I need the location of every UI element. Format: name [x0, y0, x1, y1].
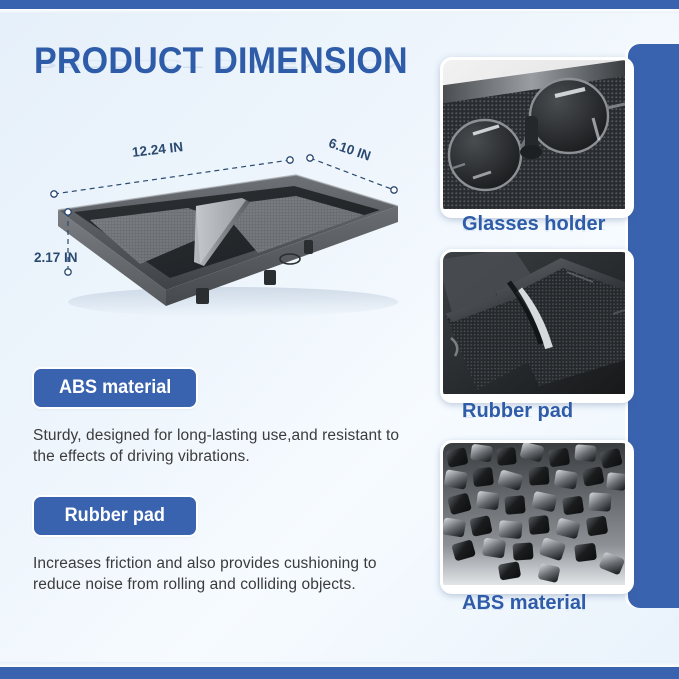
- photo-caption-abs-material: ABS material ABS material: [462, 592, 587, 615]
- page-title-text: PRODUCT DIMENSION: [34, 38, 402, 84]
- dimension-diagram: 12.24 IN 6.10 IN 2.17 IN: [28, 120, 428, 325]
- bottom-accent-bar: [0, 667, 679, 679]
- feature-badge-abs-material-label: ABS material: [59, 377, 171, 399]
- feature-badge-rubber-pad-label: Rubber pad: [65, 505, 165, 527]
- photo-abs-material: [443, 443, 631, 591]
- photo-caption-glasses-holder: Glasses holder Glasses holder: [462, 213, 605, 236]
- photo-caption-rubber-pad: Rubber pad Rubber pad: [462, 400, 573, 423]
- abs-pellets-illustration: [443, 443, 625, 585]
- dimension-height-label: 2.17 IN: [34, 250, 78, 265]
- photo-rubber-pad: [443, 252, 631, 400]
- photo-card-abs-material: [440, 440, 634, 594]
- feature-badge-rubber-pad: Rubber pad: [34, 497, 196, 535]
- feature-description-abs-material: Sturdy, designed for long-lasting use,an…: [33, 425, 423, 467]
- glasses-on-tray-illustration: [443, 60, 625, 209]
- top-accent-bar: [0, 0, 679, 9]
- top-separator: [0, 9, 679, 13]
- rubber-pads-illustration: [443, 252, 625, 394]
- bottom-separator: [0, 662, 679, 667]
- photo-card-glasses-holder: [440, 57, 634, 218]
- feature-description-rubber-pad: Increases friction and also provides cus…: [33, 553, 423, 595]
- right-accent-panel: [628, 44, 679, 608]
- feature-badge-abs-material: ABS material: [34, 369, 196, 407]
- photo-caption-rubber-pad-reflection: Rubber pad: [462, 411, 573, 419]
- photo-caption-abs-material-reflection: ABS material: [462, 603, 587, 611]
- product-infographic: PRODUCT DIMENSION PRODUCT DIMENSION: [0, 0, 679, 679]
- photo-card-rubber-pad: [440, 249, 634, 403]
- photo-caption-glasses-holder-reflection: Glasses holder: [462, 224, 605, 232]
- page-title: PRODUCT DIMENSION PRODUCT DIMENSION: [34, 38, 434, 86]
- photo-glasses-holder: [443, 60, 631, 215]
